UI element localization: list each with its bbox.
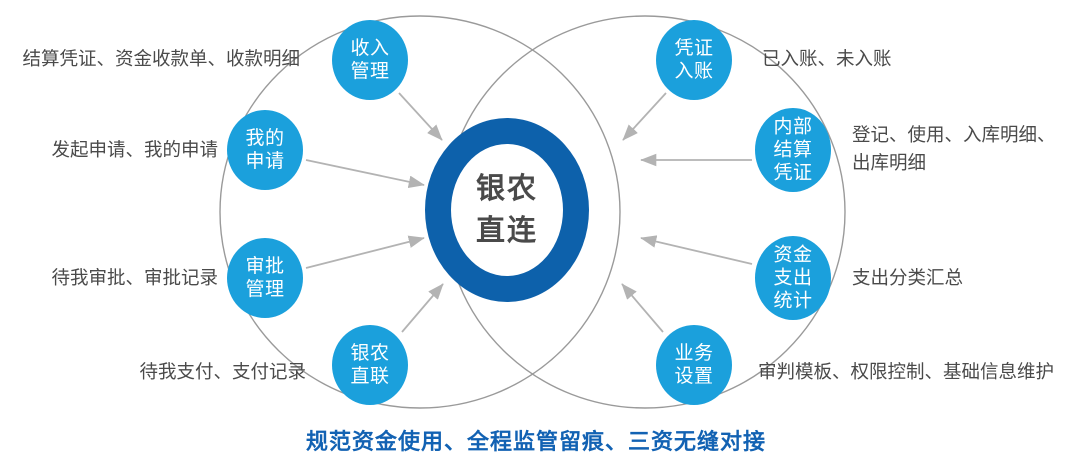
node-label-my-application-line2: 申请	[245, 150, 284, 172]
node-label-approval-management-line1: 审批	[245, 255, 284, 277]
diagram-canvas: 银农 直连 收入管理我的申请审批管理银农直联凭证入账内部结算凭证资金支出统计业务…	[0, 0, 1072, 471]
node-label-internal-settlement-voucher-line3: 凭证	[773, 162, 812, 184]
node-label-voucher-entry-line2: 入账	[674, 60, 713, 82]
node-income-management[interactable]: 收入管理	[332, 20, 408, 100]
node-label-my-application-line1: 我的	[245, 127, 284, 149]
node-circle-income-management	[332, 20, 408, 100]
node-expenditure-statistics[interactable]: 资金支出统计	[755, 236, 831, 320]
description-line: 待我支付、支付记录	[139, 358, 306, 386]
description-business-settings: 审判模板、权限控制、基础信息维护	[758, 358, 1054, 386]
node-label-expenditure-statistics-line2: 支出	[773, 267, 812, 289]
description-internal-settlement-voucher: 登记、使用、入库明细、出库明细	[852, 121, 1056, 177]
node-circle-bank-direct-link	[332, 325, 408, 405]
node-label-voucher-entry-line1: 凭证	[674, 37, 713, 59]
description-line: 待我审批、审批记录	[51, 264, 218, 292]
node-circle-business-settings	[656, 325, 732, 405]
description-line: 审判模板、权限控制、基础信息维护	[758, 358, 1054, 386]
node-label-income-management-line2: 管理	[350, 60, 389, 82]
description-bank-direct-link: 待我支付、支付记录	[139, 358, 306, 386]
node-label-approval-management-line2: 管理	[245, 278, 284, 300]
description-income-management: 结算凭证、资金收款单、收款明细	[22, 45, 300, 73]
node-label-bank-direct-link-line2: 直联	[350, 365, 389, 387]
node-label-income-management-line1: 收入	[350, 37, 389, 59]
description-expenditure-statistics: 支出分类汇总	[852, 264, 963, 292]
description-line: 支出分类汇总	[852, 264, 963, 292]
node-label-business-settings-line1: 业务	[674, 342, 713, 364]
description-voucher-entry: 已入账、未入账	[762, 45, 892, 73]
node-business-settings[interactable]: 业务设置	[656, 325, 732, 405]
description-approval-management: 待我审批、审批记录	[51, 264, 218, 292]
node-internal-settlement-voucher[interactable]: 内部结算凭证	[755, 108, 831, 192]
description-line: 发起申请、我的申请	[51, 136, 218, 164]
node-circle-voucher-entry	[656, 20, 732, 100]
description-line: 结算凭证、资金收款单、收款明细	[22, 45, 300, 73]
hub-label-line1: 银农	[476, 172, 538, 205]
node-bank-direct-link[interactable]: 银农直联	[332, 325, 408, 405]
description-line: 登记、使用、入库明细、	[852, 121, 1056, 149]
description-my-application: 发起申请、我的申请	[51, 136, 218, 164]
node-circle-approval-management	[227, 238, 303, 318]
node-voucher-entry[interactable]: 凭证入账	[656, 20, 732, 100]
node-label-internal-settlement-voucher-line2: 结算	[773, 139, 812, 161]
node-label-expenditure-statistics-line1: 资金	[773, 244, 812, 266]
diagram-caption: 规范资金使用、全程监管留痕、三资无缝对接	[0, 424, 1072, 456]
node-label-internal-settlement-voucher-line1: 内部	[773, 116, 812, 138]
description-line: 出库明细	[852, 149, 1056, 177]
node-approval-management[interactable]: 审批管理	[227, 238, 303, 318]
node-my-application[interactable]: 我的申请	[227, 110, 303, 190]
node-label-business-settings-line2: 设置	[674, 365, 713, 387]
hub-label-line2: 直连	[476, 214, 538, 247]
description-line: 已入账、未入账	[762, 45, 892, 73]
node-label-bank-direct-link-line1: 银农	[350, 342, 389, 364]
node-circle-my-application	[227, 110, 303, 190]
node-label-expenditure-statistics-line3: 统计	[773, 290, 812, 312]
